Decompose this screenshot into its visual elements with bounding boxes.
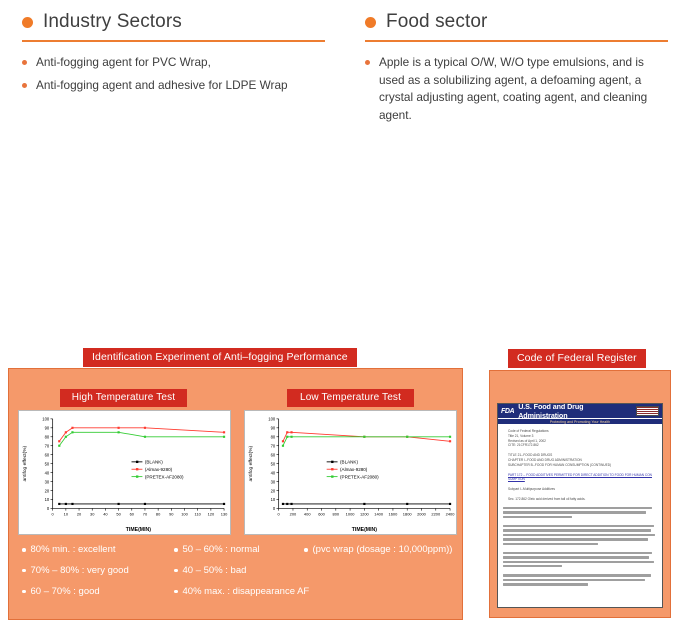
svg-text:0: 0 [52,511,55,516]
svg-text:60: 60 [45,452,50,457]
high-temperature-chart: 0102030405060708090100010203040506070809… [18,410,231,535]
criteria-label: 80% min. : excellent [31,544,116,557]
svg-text:70: 70 [45,444,50,449]
svg-text:40: 40 [45,470,50,475]
svg-text:200: 200 [290,511,297,516]
svg-text:(BLANK): (BLANK) [340,460,358,465]
small-dot-icon [22,569,26,573]
criteria-item: 50 – 60% : normal [174,544,304,557]
svg-text:2200: 2200 [431,511,441,516]
svg-text:80: 80 [271,435,276,440]
criteria-item: 80% min. : excellent [22,544,172,557]
svg-text:0: 0 [47,506,50,511]
svg-text:(Almax-9280): (Almax-9280) [340,467,368,472]
svg-text:0: 0 [273,506,276,511]
svg-text:1200: 1200 [360,511,370,516]
list-item: Anti-fogging agent for PVC Wrap, [22,54,325,72]
small-dot-icon [365,60,370,65]
svg-text:100: 100 [42,417,50,422]
food-sector-divider [365,40,668,42]
svg-text:2000: 2000 [417,511,427,516]
svg-text:10: 10 [64,511,69,516]
svg-text:100: 100 [181,511,188,516]
svg-text:90: 90 [271,426,276,431]
list-item: Apple is a typical O/W, W/O type emulsio… [365,54,668,125]
svg-text:100: 100 [268,417,276,422]
svg-text:40: 40 [271,470,276,475]
svg-text:20: 20 [45,488,50,493]
list-item-label: Anti-fogging agent for PVC Wrap, [36,54,211,72]
criteria-item: (pvc wrap (dosage : 10,000ppm)) [304,544,464,557]
svg-text:(Almax-9280): (Almax-9280) [145,467,173,472]
svg-text:20: 20 [271,488,276,493]
svg-text:120: 120 [208,511,215,516]
svg-text:30: 30 [45,479,50,484]
cfr-document-body: Code of Federal Regulations Title 21, Vo… [498,424,662,586]
svg-text:antifog effect(%): antifog effect(%) [248,445,254,481]
column-industry-sectors: Industry Sectors Anti-fogging agent for … [0,0,343,172]
svg-text:80: 80 [156,511,161,516]
small-dot-icon [174,548,178,552]
svg-text:130: 130 [221,511,228,516]
fda-logo-icon: FDA [501,408,514,415]
svg-text:80: 80 [45,435,50,440]
svg-text:30: 30 [90,511,95,516]
cfr-banner: Code of Federal Register [508,349,646,368]
criteria-label: 40 – 50% : bad [183,565,247,578]
svg-text:10: 10 [271,497,276,502]
criteria-label: 40% max. : disappearance AF [183,586,310,599]
list-item: Anti-fogging agent and adhesive for LDPE… [22,77,325,95]
low-temperature-chart: 0102030405060708090100020040060080010001… [244,410,457,535]
food-sector-title: Food sector [386,12,487,33]
svg-text:800: 800 [333,511,340,516]
low-temp-chart-svg: 0102030405060708090100020040060080010001… [245,411,456,534]
svg-text:600: 600 [318,511,325,516]
svg-text:20: 20 [77,511,82,516]
small-dot-icon [22,60,27,65]
criteria-label: (pvc wrap (dosage : 10,000ppm)) [313,544,453,557]
svg-text:2400: 2400 [446,511,456,516]
svg-text:(PRETEX-AF2080): (PRETEX-AF2080) [145,474,184,479]
svg-text:50: 50 [116,511,121,516]
svg-text:1400: 1400 [374,511,384,516]
cfr-part-link[interactable]: PART 172 -- FOOD ADDITIVES PERMITTED FOR… [503,473,657,483]
criteria-column-2: 50 – 60% : normal 40 – 50% : bad 40% max… [174,544,304,606]
small-dot-icon [174,590,178,594]
low-temperature-test-label: Low Temperature Test [287,389,414,407]
svg-text:TIME(MIN): TIME(MIN) [352,527,377,533]
criteria-item: 60 – 70% : good [22,586,172,599]
svg-text:(PRETEX-AF2080): (PRETEX-AF2080) [340,474,379,479]
orange-dot-icon [22,17,33,28]
svg-text:1800: 1800 [403,511,413,516]
high-temperature-test-label: High Temperature Test [60,389,187,407]
svg-text:10: 10 [45,497,50,502]
svg-text:1600: 1600 [389,511,399,516]
list-item-label: Anti-fogging agent and adhesive for LDPE… [36,77,288,95]
svg-text:antifog effect(%): antifog effect(%) [22,445,28,481]
cfr-heading-block: Code of Federal Regulations Title 21, Vo… [503,429,657,448]
criteria-item: 70% – 80% : very good [22,565,172,578]
criteria-item: 40% max. : disappearance AF [174,586,304,599]
industry-sectors-heading: Industry Sectors [22,12,325,33]
food-sector-heading: Food sector [365,12,668,33]
svg-text:50: 50 [271,461,276,466]
svg-text:70: 70 [271,444,276,449]
bottom-section: Identification Experiment of Anti–foggin… [0,172,686,456]
small-dot-icon [22,548,26,552]
anti-fogging-banner: Identification Experiment of Anti–foggin… [83,348,357,367]
small-dot-icon [22,83,27,88]
criteria-label: 60 – 70% : good [31,586,100,599]
fda-agency-title: U.S. Food and Drug Administration [518,403,631,420]
small-dot-icon [304,548,308,552]
high-temp-chart-svg: 0102030405060708090100010203040506070809… [19,411,230,534]
svg-text:40: 40 [103,511,108,516]
criteria-label: 70% – 80% : very good [31,565,129,578]
svg-text:1000: 1000 [346,511,356,516]
top-section: Industry Sectors Anti-fogging agent for … [0,0,686,172]
criteria-item: 40 – 50% : bad [174,565,304,578]
svg-text:(BLANK): (BLANK) [145,460,163,465]
criteria-column-1: 80% min. : excellent 70% – 80% : very go… [22,544,172,606]
svg-text:60: 60 [130,511,135,516]
criteria-label: 50 – 60% : normal [183,544,260,557]
cfr-paragraph-lines [503,507,657,586]
svg-text:90: 90 [169,511,174,516]
svg-text:30: 30 [271,479,276,484]
food-sector-list: Apple is a typical O/W, W/O type emulsio… [365,54,668,125]
small-dot-icon [22,590,26,594]
svg-text:0: 0 [278,511,281,516]
svg-text:70: 70 [143,511,148,516]
svg-text:400: 400 [304,511,311,516]
svg-text:110: 110 [195,511,202,516]
criteria-column-3: (pvc wrap (dosage : 10,000ppm)) [304,544,464,565]
svg-text:50: 50 [45,461,50,466]
cfr-chapter-block: TITLE 21--FOOD AND DRUGS CHAPTER I--FOOD… [503,453,657,467]
industry-sectors-divider [22,40,325,42]
column-food-sector: Food sector Apple is a typical O/W, W/O … [343,0,686,172]
list-item-label: Apple is a typical O/W, W/O type emulsio… [379,54,668,125]
industry-sectors-list: Anti-fogging agent for PVC Wrap, Anti-fo… [22,54,325,94]
svg-text:TIME(MIN): TIME(MIN) [126,527,151,533]
svg-text:60: 60 [271,452,276,457]
svg-text:90: 90 [45,426,50,431]
us-flag-icon [636,406,659,416]
orange-dot-icon [365,17,376,28]
fda-header-bar: FDA U.S. Food and Drug Administration [498,404,662,418]
industry-sectors-title: Industry Sectors [43,12,182,33]
small-dot-icon [174,569,178,573]
cfr-document-thumbnail: FDA U.S. Food and Drug Administration Pr… [497,403,663,608]
